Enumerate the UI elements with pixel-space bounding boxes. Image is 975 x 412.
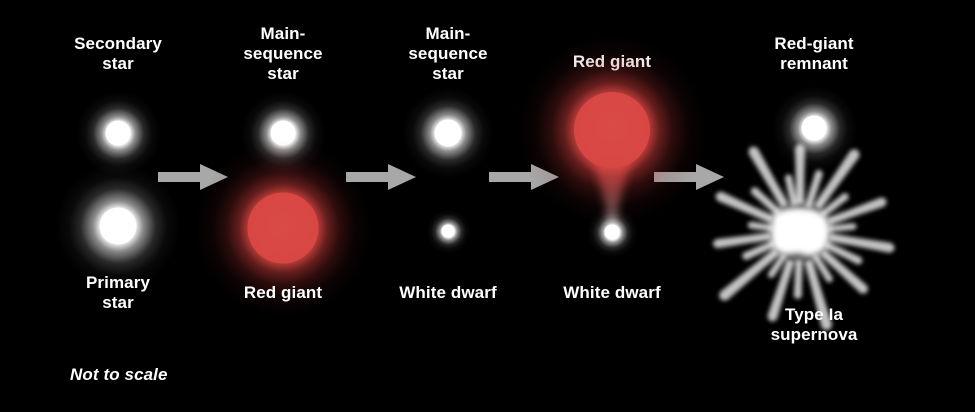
stage-2-top-label: Main- sequence star [213, 24, 353, 84]
stage-2-bottom-label: Red giant [213, 283, 353, 303]
supernova-diagram: Secondary star Primary star Main- sequen… [0, 0, 975, 412]
stage-3-top-label: Main- sequence star [378, 24, 518, 84]
stage-4-bottom-label: White dwarf [542, 283, 682, 303]
secondary-star [106, 121, 131, 146]
stage-1-top-label: Secondary star [43, 34, 193, 74]
stage-1-bottom-label: Primary star [43, 273, 193, 313]
primary-star [100, 208, 137, 245]
main-sequence-star-stage3 [435, 120, 462, 147]
stage-5-bottom-label: Type Ia supernova [744, 305, 884, 345]
white-dwarf-stage4 [605, 225, 620, 240]
stage-3-bottom-label: White dwarf [378, 283, 518, 303]
red-giant-remnant [802, 116, 827, 141]
not-to-scale-note: Not to scale [70, 365, 270, 385]
white-dwarf-stage3 [442, 225, 455, 238]
stage-5-top-label: Red-giant remnant [744, 34, 884, 74]
arrow-stage2-to-stage3 [346, 162, 416, 192]
red-giant-stage2 [248, 193, 319, 264]
red-giant-stage4 [574, 92, 650, 168]
